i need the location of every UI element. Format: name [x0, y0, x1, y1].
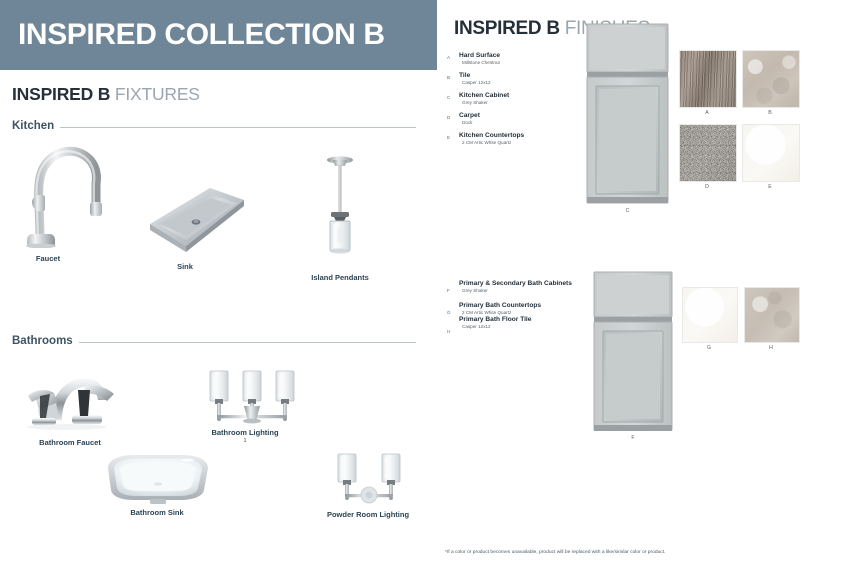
fixture-powder-room-lighting: Powder Room Lighting: [330, 452, 410, 527]
fixture-caption: Bathroom Faucet: [39, 438, 101, 447]
section-header-kitchen: Kitchen: [12, 120, 416, 134]
finishes-heading-bold: INSPIRED B: [454, 18, 560, 39]
fixture-caption: Bathroom Lighting: [211, 428, 278, 437]
finish-letter: A: [447, 55, 450, 60]
finish-name: Primary Bath Countertops: [459, 302, 541, 309]
fixture-caption: Powder Room Lighting: [327, 510, 409, 519]
fixture-caption: Sink: [177, 262, 193, 271]
finish-sub: Casper 12x12: [462, 80, 491, 85]
bath-cabinet-door: F: [592, 270, 674, 435]
finish-sub: Millstone Chestnut: [462, 60, 500, 65]
hard-surface-swatch: [679, 50, 737, 108]
disclaimer-note: *If a color or product becomes unavailab…: [445, 550, 665, 555]
bath-countertop-swatch: [682, 287, 738, 343]
cabinet-door-icon: [585, 22, 670, 207]
finish-letter: B: [447, 75, 450, 80]
finish-sub: Casper 12x12: [462, 324, 491, 329]
finish-name: Tile: [459, 72, 470, 79]
finish-letter: F: [447, 288, 450, 293]
finish-item: G Primary Bath Countertops 2 CM Artic Wh…: [447, 302, 587, 316]
carpet-swatch: [679, 124, 737, 182]
finish-item: B Tile Casper 12x12: [447, 72, 582, 92]
finish-letter: C: [447, 95, 450, 100]
finish-item: A Hard Surface Millstone Chestnut: [447, 52, 582, 72]
cabinet-door-icon: [592, 270, 674, 435]
section-rule: [12, 127, 416, 128]
finish-item: H Primary Bath Floor Tile Casper 12x12: [447, 316, 587, 338]
fixture-bathroom-sink: Bathroom Sink: [100, 450, 215, 525]
fixtures-heading-light: FIXTURES: [115, 84, 200, 104]
finish-item: F Primary & Secondary Bath Cabinets Grey…: [447, 280, 587, 302]
fixture-caption: Island Pendants: [311, 273, 369, 282]
fixture-bathroom-faucet: Bathroom Faucet: [12, 360, 127, 450]
finish-sub: Grey Shaker: [462, 100, 488, 105]
finish-name: Primary & Secondary Bath Cabinets: [459, 280, 572, 287]
section-label-kitchen: Kitchen: [12, 120, 60, 132]
finishes-column: INSPIRED B FINISHES A Hard Surface Mills…: [437, 0, 853, 569]
kitchen-faucet-icon: [10, 136, 120, 248]
finish-item: D Carpet Dock: [447, 112, 582, 132]
bathroom-faucet-icon: [12, 360, 127, 432]
section-header-bathrooms: Bathrooms: [12, 335, 416, 349]
finish-name: Kitchen Cabinet: [459, 92, 509, 99]
finish-sub: 2 CM Artic White Quartz: [462, 140, 511, 145]
swatch-label: G: [682, 345, 736, 351]
swatch-label: H: [744, 345, 798, 351]
finish-letter: E: [447, 135, 450, 140]
fixtures-heading-bold: INSPIRED B: [12, 84, 110, 104]
fixture-kitchen-faucet: Faucet: [10, 136, 120, 266]
title-banner: INSPIRED COLLECTION B: [0, 0, 437, 70]
finish-item: E Kitchen Countertops 2 CM Artic White Q…: [447, 132, 582, 152]
finish-name: Hard Surface: [459, 52, 500, 59]
kitchen-sink-icon: [140, 180, 250, 260]
pendant-light-icon: [305, 155, 375, 271]
fixture-kitchen-sink: Sink: [140, 180, 250, 275]
swatch-label: B: [742, 110, 798, 116]
finish-list-bath: F Primary & Secondary Bath Cabinets Grey…: [447, 280, 587, 338]
kitchen-cabinet-door: C: [585, 22, 670, 207]
door-label: F: [592, 435, 674, 441]
finish-letter: D: [447, 115, 450, 120]
fixtures-heading: INSPIRED B FIXTURES: [12, 84, 200, 105]
finish-name: Kitchen Countertops: [459, 132, 524, 139]
vanity-light-2-icon: [330, 452, 410, 510]
bath-floor-tile-swatch: [744, 287, 800, 343]
finish-sub: Grey Shaker: [462, 288, 488, 293]
fixture-island-pendants: Island Pendants: [305, 155, 375, 285]
section-label-bathrooms: Bathrooms: [12, 335, 79, 347]
door-label: C: [585, 208, 670, 214]
finish-sub: 2 CM Artic White Quartz: [462, 310, 511, 315]
finish-sub: Dock: [462, 120, 472, 125]
fixture-bathroom-lighting: Bathroom Lighting 1: [200, 368, 305, 453]
finish-name: Primary Bath Floor Tile: [459, 316, 531, 323]
finish-letter: G: [447, 310, 451, 315]
fixtures-column: INSPIRED COLLECTION B INSPIRED B FIXTURE…: [0, 0, 437, 569]
bathroom-sink-icon: [100, 450, 215, 505]
collection-title: INSPIRED COLLECTION B: [18, 15, 385, 55]
finish-name: Carpet: [459, 112, 480, 119]
finish-letter: H: [447, 329, 450, 334]
fixture-subcaption: 1: [244, 438, 247, 444]
kitchen-countertop-swatch: [742, 124, 800, 182]
swatch-label: D: [679, 184, 735, 190]
finish-list-kitchen: A Hard Surface Millstone Chestnut B Tile…: [447, 52, 582, 152]
swatch-label: A: [679, 110, 735, 116]
tile-swatch: [742, 50, 800, 108]
fixture-caption: Faucet: [36, 254, 60, 263]
finish-item: C Kitchen Cabinet Grey Shaker: [447, 92, 582, 112]
vanity-light-3-icon: [200, 368, 305, 430]
swatch-label: E: [742, 184, 798, 190]
fixture-caption: Bathroom Sink: [130, 508, 183, 517]
